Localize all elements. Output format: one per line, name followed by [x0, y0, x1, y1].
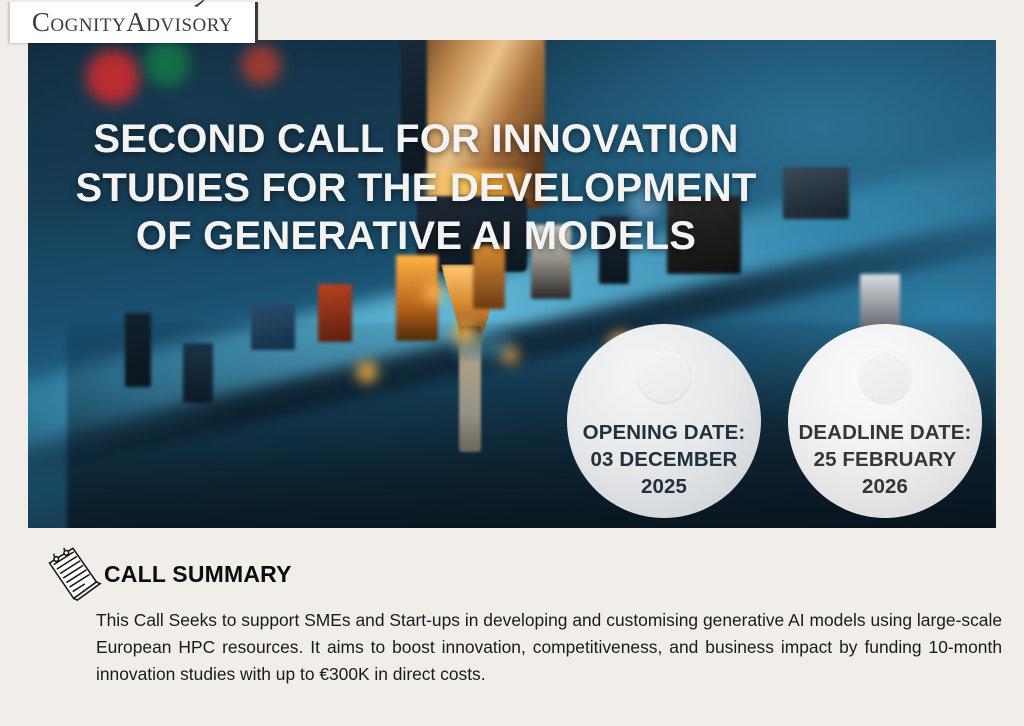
deadline-date-year: 2026: [788, 473, 982, 500]
opening-date-badge: OPENING DATE: 03 DECEMBER 2025: [567, 324, 761, 518]
board-chip: [125, 313, 151, 387]
clipboard-icon: [40, 539, 106, 609]
deadline-date-day-month: 25 FEBRUARY: [788, 446, 982, 473]
page-title: SECOND CALL FOR INNOVATION STUDIES FOR T…: [60, 115, 772, 261]
call-summary-body: This Call Seeks to support SMEs and Star…: [0, 607, 1024, 688]
bokeh-light: [86, 50, 140, 104]
deadline-date-text: DEADLINE DATE: 25 FEBRUARY 2026: [788, 419, 982, 500]
opening-date-year: 2025: [567, 473, 761, 500]
board-chip: [783, 167, 849, 219]
brand-logo-text: CognityAdvisory: [32, 7, 233, 38]
call-summary-section: CALL SUMMARY This Call Seeks to support …: [0, 546, 1024, 688]
brand-logo[interactable]: CognityAdvisory: [8, 2, 258, 43]
opening-date-day-month: 03 DECEMBER: [567, 446, 761, 473]
call-summary-header: CALL SUMMARY: [0, 546, 1024, 602]
bokeh-light: [454, 333, 514, 361]
badge-inner-circle: [860, 351, 911, 402]
board-chip: [251, 304, 295, 350]
swoosh-check-icon: [193, 0, 211, 8]
board-chip: [318, 284, 352, 342]
board-chip: [183, 343, 213, 403]
call-summary-title: CALL SUMMARY: [104, 561, 292, 588]
bokeh-light: [425, 284, 443, 302]
bokeh-light: [241, 45, 281, 85]
opening-date-text: OPENING DATE: 03 DECEMBER 2025: [567, 419, 761, 500]
bokeh-light: [144, 40, 190, 86]
badge-inner-circle: [639, 351, 690, 402]
deadline-date-label: DEADLINE DATE:: [788, 419, 982, 446]
deadline-date-badge: DEADLINE DATE: 25 FEBRUARY 2026: [788, 324, 982, 518]
opening-date-label: OPENING DATE:: [567, 419, 761, 446]
